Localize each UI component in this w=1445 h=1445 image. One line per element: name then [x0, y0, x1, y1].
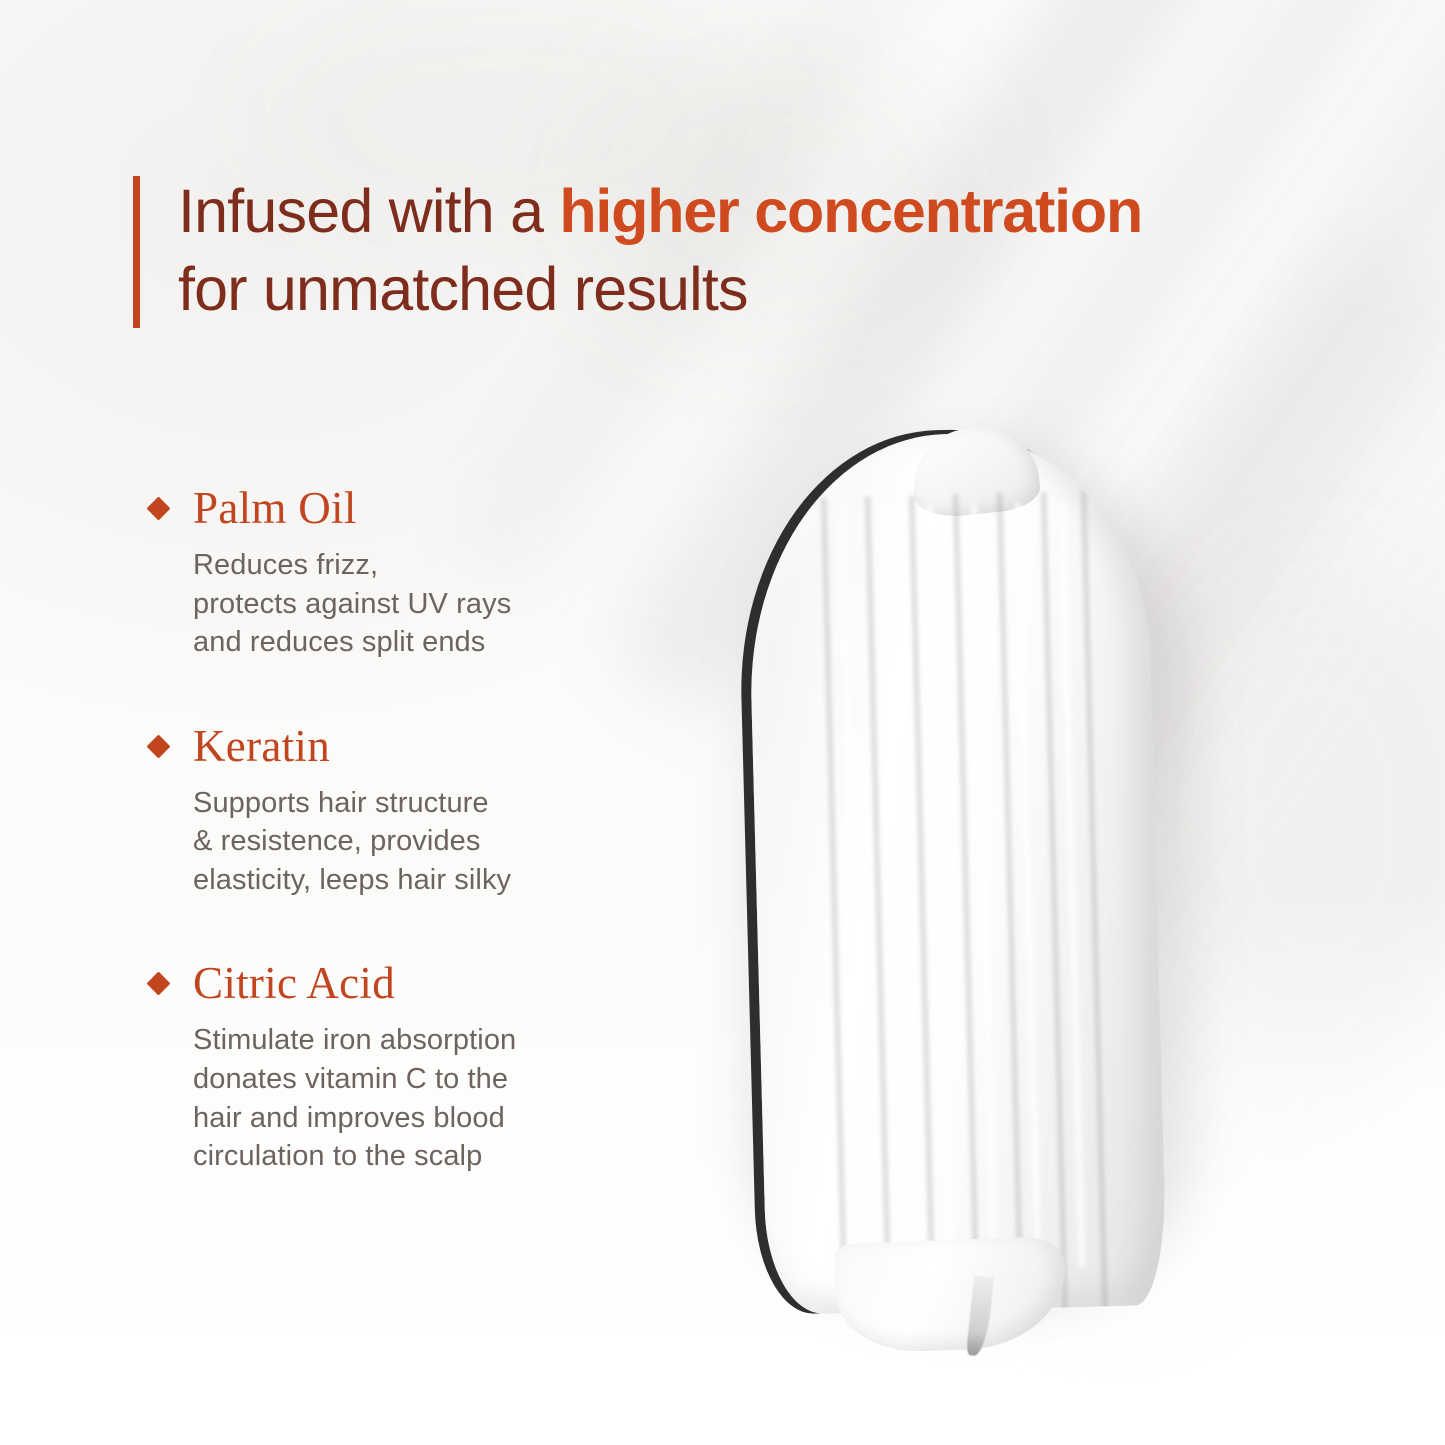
headline: Infused with a higher concentration for … [133, 172, 1142, 328]
ingredient-title: Keratin [193, 724, 330, 769]
ingredient-item-citric-acid: Citric Acid Stimulate iron absorption do… [150, 961, 620, 1175]
ingredient-item-palm-oil: Palm Oil Reduces frizz, protects against… [150, 486, 620, 662]
product-infographic: Infused with a higher concentration for … [0, 0, 1445, 1445]
description-line: protects against UV rays [193, 585, 620, 624]
description-line: and reduces split ends [193, 623, 620, 662]
ingredient-description: Reduces frizz, protects against UV rays … [193, 546, 620, 662]
description-line: & resistence, provides [193, 822, 620, 861]
ingredient-description: Supports hair structure & resistence, pr… [193, 784, 620, 900]
description-line: circulation to the scalp [193, 1137, 620, 1176]
accent-bar [133, 176, 140, 328]
description-line: Supports hair structure [193, 784, 620, 823]
diamond-bullet-icon [146, 496, 170, 520]
cream-swatch-tail [834, 1236, 1068, 1354]
headline-text: Infused with a higher concentration for … [178, 172, 1142, 328]
headline-line-1: Infused with a higher concentration [178, 172, 1142, 250]
diamond-bullet-icon [146, 734, 170, 758]
ingredient-title: Palm Oil [193, 486, 357, 531]
cream-swatch-image [726, 420, 1246, 1340]
ingredient-list: Palm Oil Reduces frizz, protects against… [150, 486, 620, 1176]
ingredient-description: Stimulate iron absorption donates vitami… [193, 1021, 620, 1175]
description-line: Stimulate iron absorption [193, 1021, 620, 1060]
ingredient-header: Palm Oil [150, 486, 620, 531]
headline-emphasis-text: higher concentration [559, 177, 1142, 245]
ingredient-header: Keratin [150, 724, 620, 769]
description-line: donates vitamin C to the [193, 1060, 620, 1099]
cream-swatch-ridges [745, 429, 1168, 1315]
headline-line-2: for unmatched results [178, 250, 1142, 328]
headline-plain-text: Infused with a [178, 177, 559, 245]
ingredient-title: Citric Acid [193, 961, 395, 1006]
description-line: Reduces frizz, [193, 546, 620, 585]
description-line: elasticity, leeps hair silky [193, 861, 620, 900]
ingredient-header: Citric Acid [150, 961, 620, 1006]
ingredient-item-keratin: Keratin Supports hair structure & resist… [150, 724, 620, 900]
diamond-bullet-icon [146, 972, 170, 996]
description-line: hair and improves blood [193, 1099, 620, 1138]
